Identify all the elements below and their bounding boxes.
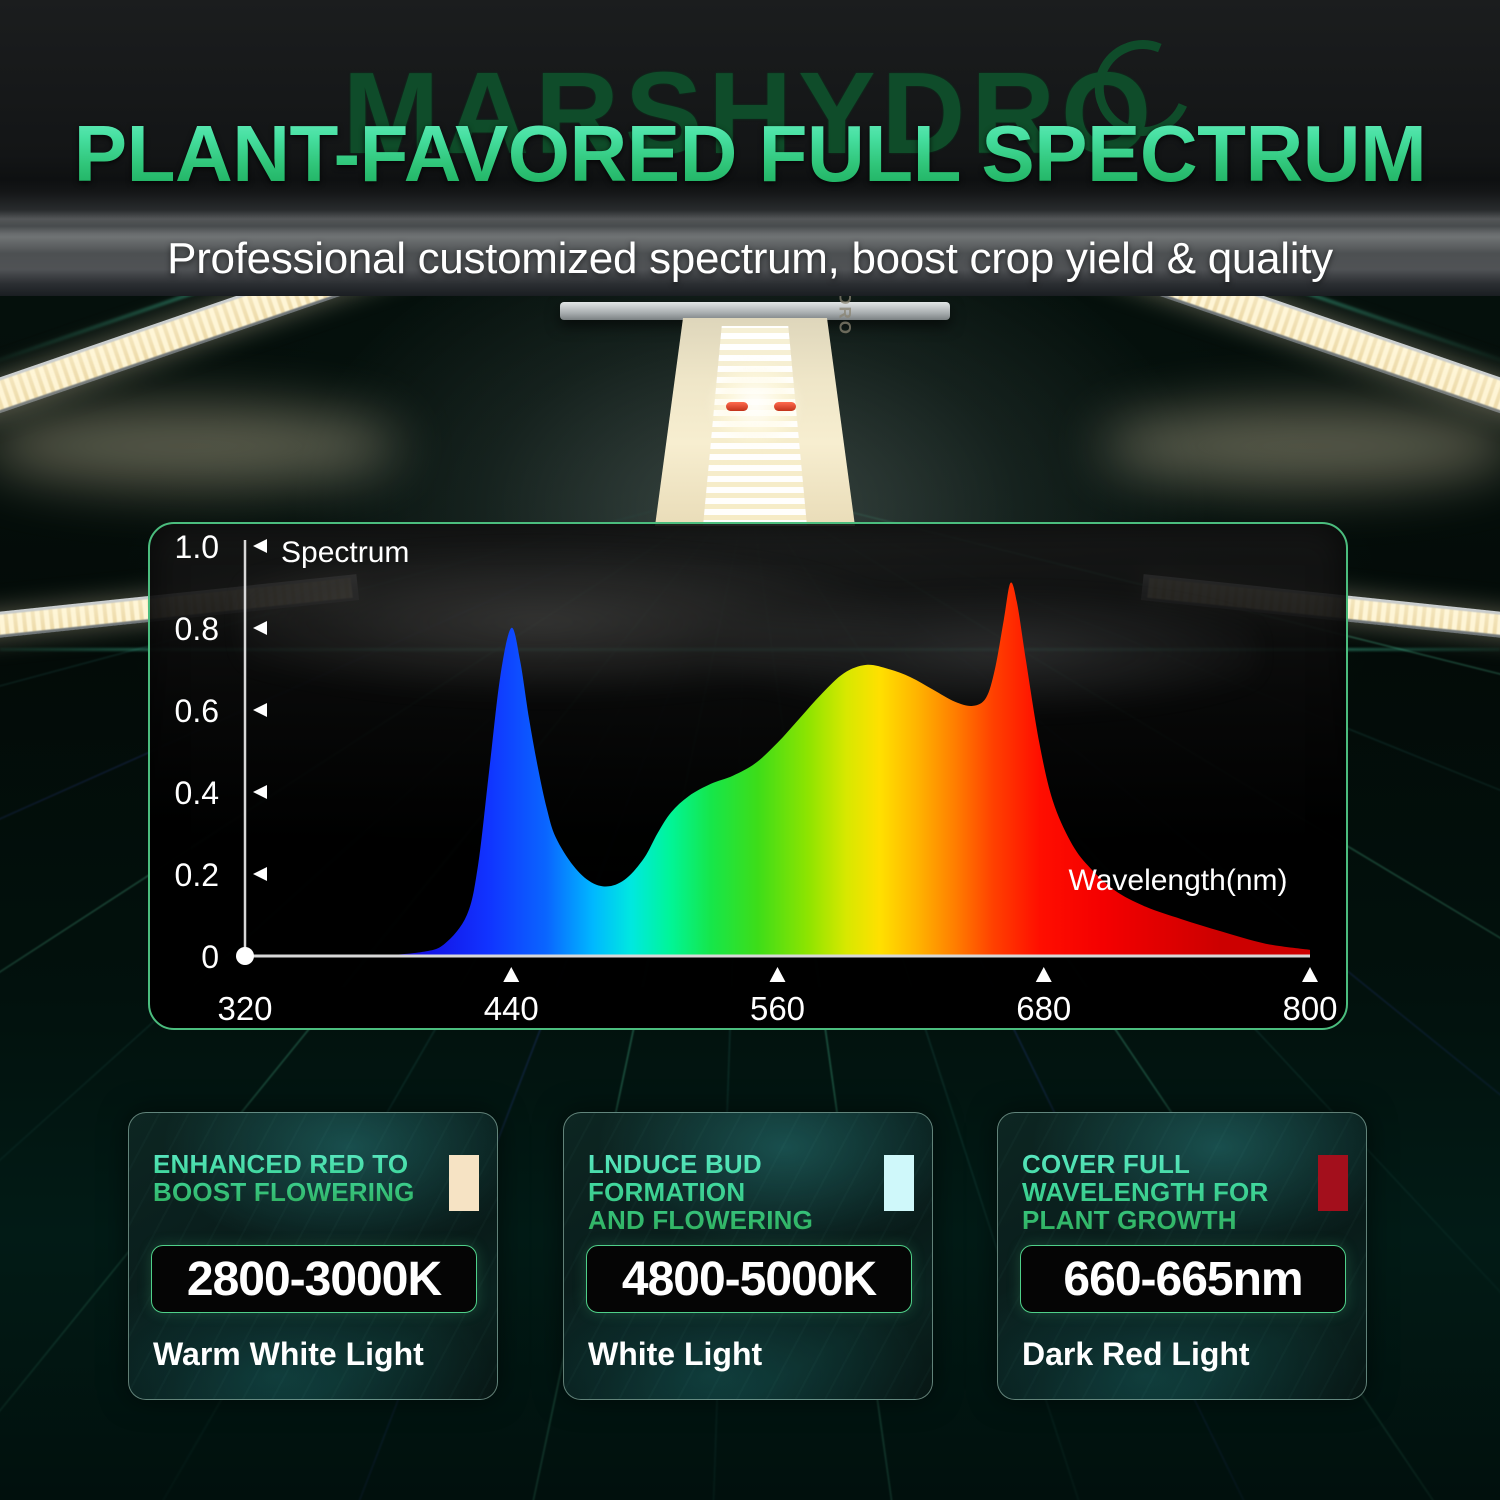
- x-tick-marker: [1036, 967, 1052, 982]
- y-tick-marker: [253, 785, 267, 799]
- fixture-clip: [774, 402, 796, 411]
- dark-red-swatch: [1318, 1155, 1348, 1211]
- center-led-fixture: MARSHYDRO: [620, 296, 890, 526]
- x-tick-marker: [1302, 967, 1318, 982]
- y-tick-marker: [253, 867, 267, 881]
- y-tick-label: 0.8: [175, 611, 219, 647]
- led-glow: [1100, 406, 1500, 486]
- page-subtitle: Professional customized spectrum, boost …: [0, 234, 1500, 284]
- white-swatch: [884, 1155, 914, 1211]
- x-tick-marker: [770, 967, 786, 982]
- x-tick-label: 560: [750, 990, 805, 1027]
- warm-white-swatch: [449, 1155, 479, 1211]
- feature-cards-row: ENHANCED RED TO BOOST FLOWERING 2800-300…: [0, 1112, 1500, 1400]
- card-value: 660-665nm: [1063, 1252, 1302, 1307]
- x-tick-label: 680: [1016, 990, 1071, 1027]
- feature-card-warm-white[interactable]: ENHANCED RED TO BOOST FLOWERING 2800-300…: [128, 1112, 498, 1400]
- card-value: 2800-3000K: [187, 1252, 441, 1307]
- card-value: 4800-5000K: [622, 1252, 876, 1307]
- card-footer-label: White Light: [588, 1336, 762, 1373]
- feature-card-white[interactable]: LNDUCE BUD FORMATION AND FLOWERING 4800-…: [563, 1112, 933, 1400]
- y-tick-label: 0.2: [175, 857, 219, 893]
- feature-card-dark-red[interactable]: COVER FULL WAVELENGTH FOR PLANT GROWTH 6…: [997, 1112, 1367, 1400]
- spectrum-area-path: [378, 582, 1310, 956]
- card-value-box: 4800-5000K: [586, 1245, 912, 1313]
- x-tick-label: 440: [484, 990, 539, 1027]
- card-value-box: 660-665nm: [1020, 1245, 1346, 1313]
- card-value-box: 2800-3000K: [151, 1245, 477, 1313]
- card-heading: LNDUCE BUD FORMATION AND FLOWERING: [588, 1151, 878, 1234]
- infographic-root: MARSHYDRO PLANT-FAVORED FULL SPECTRUM Pr…: [0, 0, 1500, 1500]
- x-tick-label: 800: [1282, 990, 1337, 1027]
- card-footer-label: Warm White Light: [153, 1336, 424, 1373]
- y-tick-marker: [253, 539, 267, 553]
- page-title: PLANT-FAVORED FULL SPECTRUM: [0, 108, 1500, 200]
- spectrum-chart-panel: 00.20.40.60.81.0320440560680800SpectrumW…: [148, 522, 1348, 1030]
- card-heading: COVER FULL WAVELENGTH FOR PLANT GROWTH: [1022, 1151, 1312, 1234]
- card-heading: ENHANCED RED TO BOOST FLOWERING: [153, 1151, 443, 1207]
- y-tick-label: 0.6: [175, 693, 219, 729]
- y-tick-label: 0.4: [175, 775, 219, 811]
- y-tick-label: 0: [201, 939, 219, 975]
- fixture-mount-bar: [560, 302, 950, 320]
- spectrum-chart-svg: 00.20.40.60.81.0320440560680800SpectrumW…: [150, 524, 1348, 1030]
- axis-origin-dot: [236, 947, 254, 965]
- y-tick-label: 1.0: [175, 529, 219, 565]
- x-tick-label: 320: [217, 990, 272, 1027]
- y-tick-marker: [253, 703, 267, 717]
- fixture-brand-label: MARSHYDRO: [834, 296, 854, 336]
- fixture-clip: [726, 402, 748, 411]
- y-tick-marker: [253, 621, 267, 635]
- header-band: MARSHYDRO PLANT-FAVORED FULL SPECTRUM Pr…: [0, 0, 1500, 300]
- card-footer-label: Dark Red Light: [1022, 1336, 1250, 1373]
- y-axis-title: Spectrum: [281, 536, 409, 569]
- x-axis-title: Wavelength(nm): [1069, 864, 1288, 897]
- x-tick-marker: [503, 967, 519, 982]
